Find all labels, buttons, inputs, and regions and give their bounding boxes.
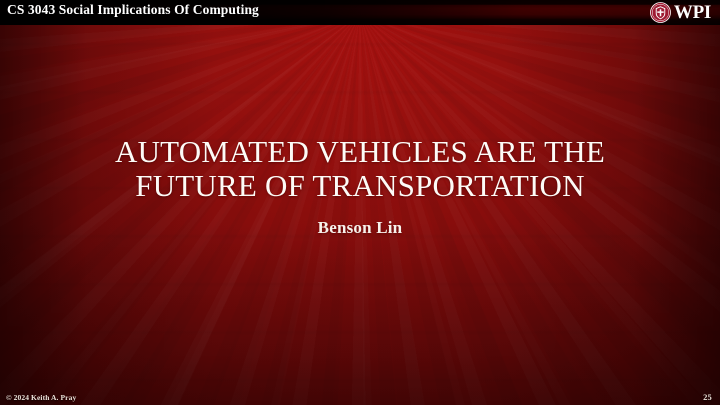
slide-title: AUTOMATED VEHICLES ARE THE FUTURE OF TRA…: [40, 135, 680, 203]
presenter-name: Benson Lin: [0, 218, 720, 238]
course-title: CS 3043 Social Implications Of Computing: [7, 2, 259, 18]
wpi-logo-text: WPI: [674, 3, 711, 22]
slide-page-number: 25: [703, 392, 712, 402]
presentation-slide: CS 3043 Social Implications Of Computing…: [0, 0, 720, 405]
slide-content: AUTOMATED VEHICLES ARE THE FUTURE OF TRA…: [0, 25, 720, 405]
wpi-logo-lockup: WPI: [650, 1, 711, 24]
slide-title-line-2: FUTURE OF TRANSPORTATION: [40, 169, 680, 203]
wpi-seal-icon: [650, 2, 671, 23]
copyright-notice: © 2024 Keith A. Pray: [6, 393, 76, 402]
slide-title-line-1: AUTOMATED VEHICLES ARE THE: [40, 135, 680, 169]
